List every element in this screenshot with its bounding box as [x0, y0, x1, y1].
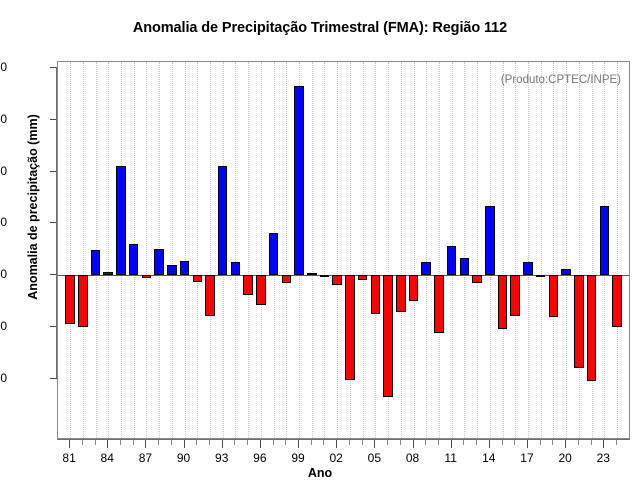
x-tick-mark: [463, 440, 464, 445]
bar-2014: [485, 206, 495, 275]
x-tick-mark: [489, 440, 490, 448]
bar-2012: [460, 258, 470, 275]
x-axis-spine: [57, 439, 630, 440]
bar-2021: [574, 275, 584, 368]
x-tick-label: 81: [62, 451, 75, 465]
grid-line: [286, 62, 288, 438]
x-tick-mark: [591, 440, 592, 445]
grid-line: [172, 62, 174, 438]
y-tick-label: 0: [0, 267, 7, 281]
bar-2010: [434, 275, 444, 333]
bar-2000: [307, 273, 317, 275]
x-tick-mark: [527, 440, 528, 448]
x-tick-mark: [323, 440, 324, 445]
bar-2001: [320, 275, 330, 277]
x-tick-mark: [374, 440, 375, 448]
x-tick-mark: [95, 440, 96, 445]
x-tick-mark: [349, 440, 350, 445]
bar-2004: [358, 275, 368, 280]
bar-1987: [142, 275, 152, 278]
x-tick-mark: [133, 440, 134, 445]
bar-2003: [345, 275, 355, 380]
y-tick-label: 200: [0, 164, 7, 178]
x-tick-label: 11: [444, 451, 456, 465]
grid-line: [439, 62, 441, 438]
bar-1986: [129, 244, 139, 275]
grid-line: [592, 62, 594, 438]
bar-2017: [523, 262, 533, 275]
grid-line: [477, 62, 479, 438]
grid-line: [401, 62, 403, 438]
x-tick-label: 99: [291, 451, 304, 465]
x-tick-mark: [69, 440, 70, 448]
y-axis: 4003002001000-100-200: [0, 0, 57, 500]
grid-line: [426, 62, 428, 438]
grid-line: [83, 62, 85, 438]
bar-2023: [600, 206, 610, 275]
grid-line: [146, 62, 148, 438]
bar-2006: [383, 275, 393, 397]
bar-1991: [193, 275, 203, 282]
bar-1994: [231, 262, 241, 275]
y-tick-label: -100: [0, 319, 7, 333]
grid-line: [324, 62, 326, 438]
x-tick-mark: [171, 440, 172, 445]
bar-1983: [91, 250, 101, 275]
x-tick-mark: [234, 440, 235, 445]
bar-2024: [612, 275, 622, 327]
x-tick-mark: [247, 440, 248, 445]
x-tick-mark: [285, 440, 286, 445]
bar-2002: [332, 275, 342, 285]
x-tick-mark: [616, 440, 617, 445]
bar-1998: [282, 275, 292, 283]
bar-1993: [218, 166, 228, 275]
x-tick-mark: [400, 440, 401, 445]
x-axis: 818487909396990205081114172023: [0, 439, 640, 499]
x-tick-label: 87: [139, 451, 152, 465]
bar-1997: [269, 233, 279, 275]
grid-line: [337, 62, 339, 438]
grid-line: [375, 62, 377, 438]
grid-line: [566, 62, 568, 438]
x-tick-mark: [451, 440, 452, 448]
grid-line: [350, 62, 352, 438]
grid-line: [210, 62, 212, 438]
x-tick-mark: [82, 440, 83, 445]
x-tick-label: 14: [482, 451, 495, 465]
grid-line: [108, 62, 110, 438]
grid-line: [185, 62, 187, 438]
bar-1984: [103, 272, 113, 275]
x-tick-label: 20: [558, 451, 571, 465]
grid-line: [261, 62, 263, 438]
x-tick-label: 90: [177, 451, 190, 465]
x-tick-mark: [438, 440, 439, 445]
x-tick-mark: [196, 440, 197, 445]
bar-2022: [587, 275, 597, 381]
x-tick-mark: [311, 440, 312, 445]
y-tick-label: 100: [0, 215, 7, 229]
grid-line: [312, 62, 314, 438]
x-tick-label: 08: [406, 451, 419, 465]
grid-line: [414, 62, 416, 438]
x-tick-mark: [540, 440, 541, 445]
y-tick-label: 300: [0, 112, 7, 126]
bar-1990: [180, 261, 190, 275]
bar-2005: [371, 275, 381, 314]
bar-2019: [549, 275, 559, 317]
x-tick-mark: [209, 440, 210, 445]
page-title: Anomalia de Precipitação Trimestral (FMA…: [0, 20, 640, 36]
x-tick-mark: [425, 440, 426, 445]
x-tick-mark: [578, 440, 579, 445]
bar-2018: [536, 275, 546, 277]
bar-1995: [243, 275, 253, 295]
x-tick-mark: [260, 440, 261, 448]
grid-line: [363, 62, 365, 438]
bar-2009: [421, 262, 431, 275]
bar-1989: [167, 265, 177, 275]
grid-line: [248, 62, 250, 438]
x-tick-mark: [565, 440, 566, 448]
bar-1982: [78, 275, 88, 327]
x-tick-mark: [158, 440, 159, 445]
bar-1996: [256, 275, 266, 305]
grid-line: [70, 62, 72, 438]
x-tick-label: 96: [253, 451, 266, 465]
y-tick-mark: [50, 378, 57, 379]
x-tick-mark: [184, 440, 185, 448]
x-tick-mark: [336, 440, 337, 448]
grid-line: [197, 62, 199, 438]
x-tick-mark: [222, 440, 223, 448]
bar-1981: [65, 275, 75, 324]
x-tick-label: 02: [329, 451, 342, 465]
x-tick-mark: [298, 440, 299, 448]
bar-1999: [294, 86, 304, 275]
bar-2011: [447, 246, 457, 275]
x-tick-mark: [476, 440, 477, 445]
grid-line: [579, 62, 581, 438]
x-tick-label: 17: [520, 451, 533, 465]
y-tick-label: 400: [0, 60, 7, 74]
x-tick-mark: [387, 440, 388, 445]
x-tick-mark: [145, 440, 146, 448]
bar-2008: [409, 275, 419, 301]
x-tick-label: 84: [101, 451, 114, 465]
x-tick-mark: [502, 440, 503, 445]
x-tick-label: 05: [368, 451, 381, 465]
x-tick-mark: [413, 440, 414, 448]
x-tick-mark: [273, 440, 274, 445]
bar-2007: [396, 275, 406, 312]
chart-root: Anomalia de Precipitação Trimestral (FMA…: [0, 0, 640, 500]
bar-1988: [154, 249, 164, 275]
x-tick-mark: [120, 440, 121, 445]
x-tick-mark: [107, 440, 108, 448]
x-tick-mark: [603, 440, 604, 448]
bar-2015: [498, 275, 508, 329]
x-tick-label: 23: [597, 451, 610, 465]
bar-1992: [205, 275, 215, 316]
x-tick-mark: [514, 440, 515, 445]
x-tick-mark: [362, 440, 363, 445]
grid-line: [515, 62, 517, 438]
x-tick-label: 93: [215, 451, 228, 465]
plot-area: (Produto:CPTEC/INPE): [57, 61, 630, 439]
grid-line: [503, 62, 505, 438]
x-tick-mark: [552, 440, 553, 445]
grid-line: [464, 62, 466, 438]
grid-line: [617, 62, 619, 438]
grid-line: [541, 62, 543, 438]
source-annotation: (Produto:CPTEC/INPE): [501, 74, 621, 86]
grid-line: [528, 62, 530, 438]
y-tick-label: -200: [0, 371, 7, 385]
bar-1985: [116, 166, 126, 275]
bar-2013: [472, 275, 482, 283]
grid-line: [553, 62, 555, 438]
bar-2020: [561, 269, 571, 275]
bar-2016: [510, 275, 520, 316]
grid-line: [235, 62, 237, 438]
